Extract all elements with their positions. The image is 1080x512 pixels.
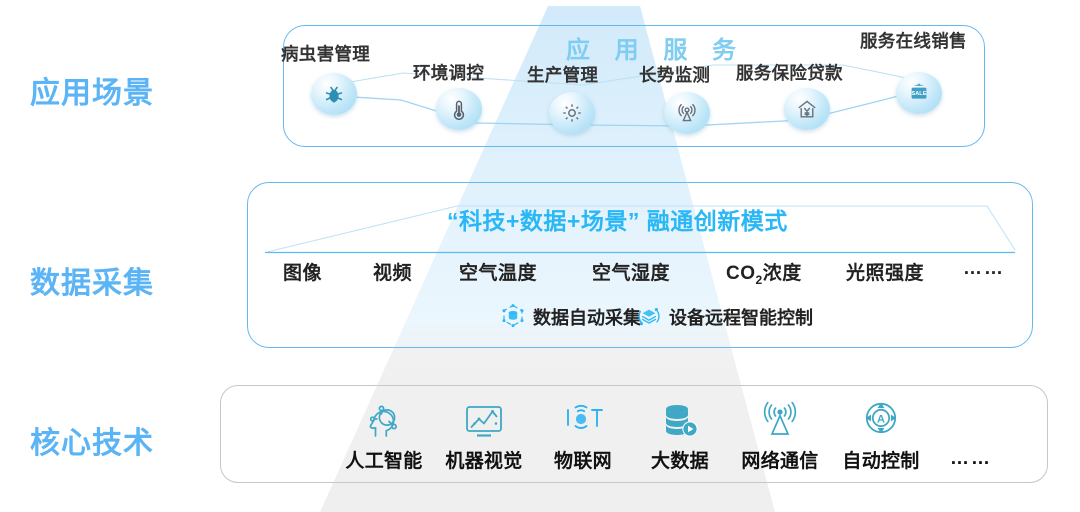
data-item-air-humidity: 空气湿度 — [592, 258, 670, 285]
tech-item-network-communication[interactable]: 网络通信 — [737, 398, 823, 473]
app-node-label-1: 环境调控 — [413, 60, 484, 85]
app-node-label-3: 长势监测 — [639, 62, 710, 87]
antenna-signal-icon — [737, 398, 823, 442]
app-node-label-2: 生产管理 — [527, 62, 598, 87]
auto-control-icon: A — [838, 398, 924, 442]
data-feature-remote-control[interactable]: 设备远程智能控制 — [636, 303, 813, 331]
data-item-image: 图像 — [283, 258, 322, 285]
app-node-label-5: 服务在线销售 — [860, 28, 967, 53]
tech-label-5: 自动控制 — [838, 446, 924, 473]
app-node-label-0: 病虫害管理 — [281, 41, 370, 66]
tech-item-ai[interactable]: 人工智能 — [341, 398, 427, 473]
co2-suffix: 浓度 — [763, 263, 802, 284]
data-feature-auto-collection[interactable]: 数据自动采集 — [500, 303, 641, 331]
svg-text:A: A — [877, 414, 885, 426]
tech-label-4: 网络通信 — [737, 446, 823, 473]
tech-label-1: 机器视觉 — [441, 446, 527, 473]
data-item-co2-concentration: CO2浓度 — [726, 258, 802, 287]
thermometer-icon — [436, 88, 482, 130]
svg-text:SALE: SALE — [912, 91, 927, 97]
gear-icon — [549, 92, 595, 134]
data-item-light-intensity: 光照强度 — [846, 258, 924, 285]
tech-ellipsis: …… — [950, 448, 992, 470]
co2-subscript: 2 — [756, 273, 763, 287]
house-yuan-icon — [784, 88, 830, 130]
data-item-air-temperature: 空气温度 — [459, 258, 537, 285]
row-label-data: 数据采集 — [30, 258, 154, 302]
app-node-label-4: 服务保险贷款 — [736, 60, 843, 85]
tech-label-3: 大数据 — [637, 446, 723, 473]
data-feature-label-0: 数据自动采集 — [533, 304, 641, 330]
row-label-core: 核心技术 — [30, 418, 154, 462]
signal-tower-icon — [664, 92, 710, 134]
tech-item-auto-control[interactable]: A 自动控制 — [838, 398, 924, 473]
tech-label-0: 人工智能 — [341, 446, 427, 473]
sale-tag-icon: SALE — [896, 72, 942, 114]
row-label-application: 应用场景 — [30, 68, 154, 112]
ai-head-icon — [341, 398, 427, 442]
tech-item-machine-vision[interactable]: 机器视觉 — [441, 398, 527, 473]
tech-label-2: 物联网 — [540, 446, 626, 473]
tech-item-big-data[interactable]: 大数据 — [637, 398, 723, 473]
data-innovation-slogan: “科技+数据+场景” 融通创新模式 — [447, 202, 788, 236]
application-service-heading: 应 用 服 务 — [566, 30, 745, 65]
tech-item-iot[interactable]: 物联网 — [540, 398, 626, 473]
infographic-canvas: 应用场景 数据采集 核心技术 应 用 服 务 病虫害管理 环境调控 — [0, 0, 1080, 512]
data-item-ellipsis: …… — [963, 258, 1005, 280]
co2-prefix: CO — [726, 263, 756, 284]
iot-icon — [540, 398, 626, 442]
monitor-chart-icon — [441, 398, 527, 442]
database-network-icon — [500, 303, 526, 331]
bug-icon — [311, 73, 357, 115]
layers-sync-icon — [636, 303, 662, 331]
data-item-video: 视频 — [373, 258, 412, 285]
database-play-icon — [637, 398, 723, 442]
data-feature-label-1: 设备远程智能控制 — [669, 304, 813, 330]
